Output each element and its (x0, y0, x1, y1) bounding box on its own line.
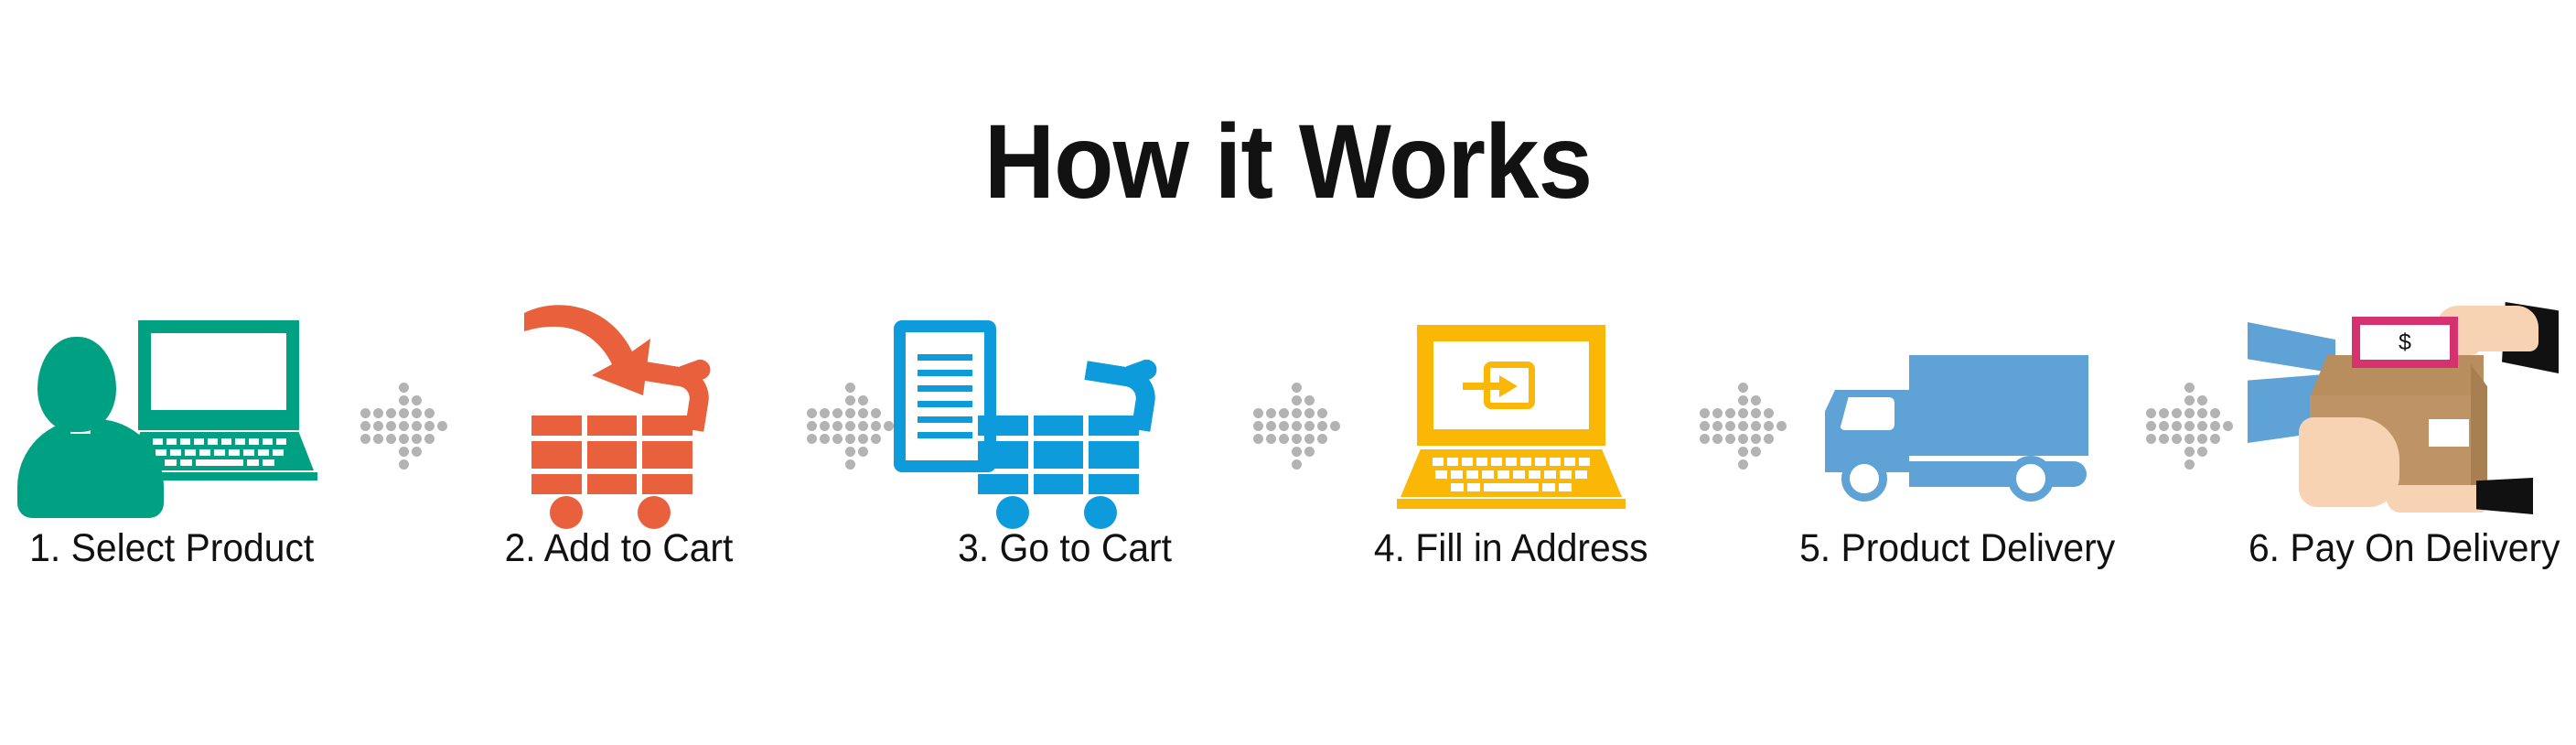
laptop-login-icon (1397, 325, 1626, 513)
separator-4 (1690, 302, 1778, 513)
customer-hand-lower (2387, 485, 2485, 513)
cart-wheel-right (638, 496, 671, 529)
document-cart-icon (978, 368, 1152, 513)
truck-wheel-rear (2008, 456, 2054, 502)
dotted-arrow-right-icon (2144, 383, 2219, 458)
cart-wheel-left (550, 496, 583, 529)
cart-wheel-left (996, 496, 1029, 529)
step-4-fill-in-address[interactable]: 4. Fill in Address (1332, 302, 1690, 568)
currency-symbol: $ (2399, 331, 2411, 354)
truck-wheel-front (1841, 456, 1887, 502)
person-laptop-icon (30, 311, 314, 513)
step-4-artwork (1332, 302, 1690, 513)
dotted-arrow-right-icon (359, 383, 434, 458)
package-label (2429, 419, 2469, 447)
arrow-into-cart-icon (531, 368, 705, 513)
hands-box-money-icon: $ (2253, 302, 2555, 513)
courier-sleeve-upper (2248, 322, 2335, 373)
step-6-pay-on-delivery[interactable]: $ 6. Pay On Delivery (2225, 302, 2576, 568)
enter-arrow-icon (1463, 374, 1529, 398)
separator-5 (2137, 302, 2225, 513)
laptop-keyboard (1401, 449, 1622, 497)
how-it-works-flow: 1. Select Product (46, 302, 2530, 668)
dotted-arrow-right-icon (805, 383, 880, 458)
separator-3 (1244, 302, 1332, 513)
step-3-artwork (885, 302, 1244, 513)
step-3-go-to-cart[interactable]: 3. Go to Cart (885, 302, 1244, 568)
step-2-label: 2. Add to Cart (504, 529, 733, 568)
step-2-add-to-cart[interactable]: 2. Add to Cart (439, 302, 798, 568)
laptop-screen (151, 333, 286, 410)
cart-wheel-right (1084, 496, 1117, 529)
step-5-label: 5. Product Delivery (1799, 529, 2115, 568)
step-5-product-delivery[interactable]: 5. Product Delivery (1778, 302, 2137, 568)
delivery-truck-icon (1825, 348, 2090, 513)
page-title: How it Works (91, 110, 2486, 215)
step-2-artwork (439, 302, 798, 513)
separator-2 (798, 302, 885, 513)
cart-basket (531, 416, 692, 494)
step-4-label: 4. Fill in Address (1374, 529, 1648, 568)
package-side (2471, 364, 2487, 487)
step-1-artwork (0, 302, 351, 513)
step-6-label: 6. Pay On Delivery (2249, 529, 2560, 568)
step-3-label: 3. Go to Cart (958, 529, 1172, 568)
truck-cargo-box (1909, 355, 2088, 456)
dotted-arrow-right-icon (1251, 383, 1326, 458)
cart-basket (978, 416, 1139, 494)
step-1-select-product[interactable]: 1. Select Product (0, 302, 351, 568)
laptop-base (1397, 499, 1626, 509)
dotted-arrow-right-icon (1698, 383, 1773, 458)
step-5-artwork (1778, 302, 2137, 513)
step-6-artwork: $ (2225, 302, 2576, 513)
person-head (38, 337, 116, 432)
truck-chassis (1909, 461, 2087, 487)
truck-window (1840, 397, 1894, 430)
separator-1 (351, 302, 439, 513)
step-1-label: 1. Select Product (29, 529, 314, 568)
banknote-icon: $ (2352, 317, 2458, 368)
customer-cuff-lower (2476, 478, 2533, 514)
